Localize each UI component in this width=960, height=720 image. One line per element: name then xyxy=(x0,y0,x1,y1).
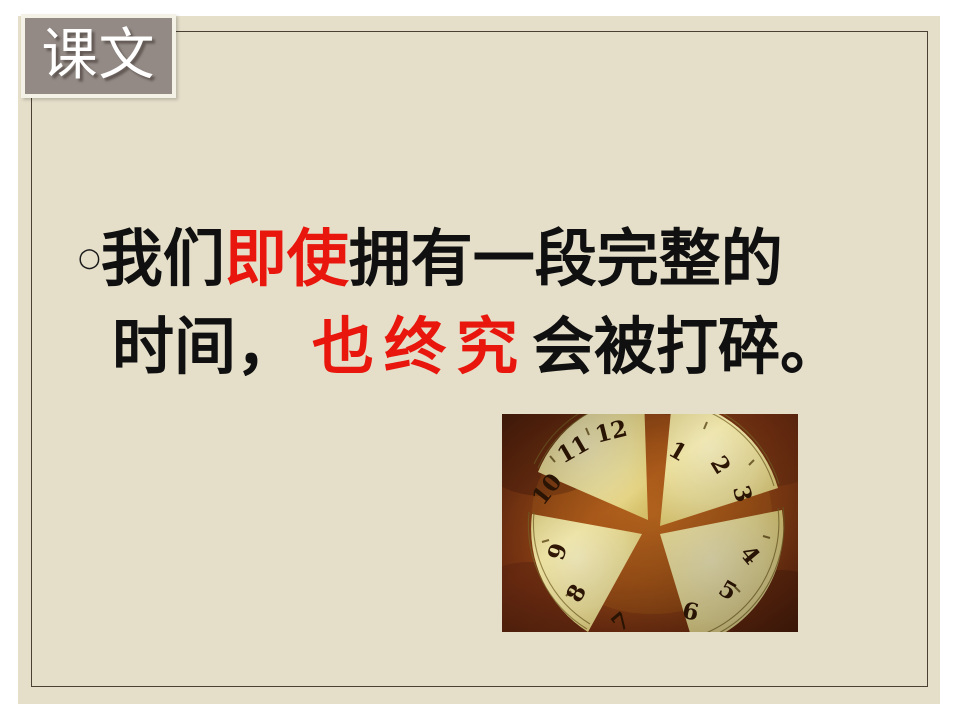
line2-segment-2: 会被打碎。 xyxy=(532,310,842,383)
section-chip-label: 课文 xyxy=(42,28,156,84)
bullet-icon: ○ xyxy=(78,243,101,273)
slide-canvas: 课文 ○我们即使拥有一段完整的 时间，也终究会被打碎。 xyxy=(0,0,960,720)
text-line-2: 时间，也终究会被打碎。 xyxy=(78,303,878,391)
line1-segment-1: 我们 xyxy=(101,222,225,295)
line1-accent-emphasis: 即使 xyxy=(225,222,349,295)
text-line-1: ○我们即使拥有一段完整的 xyxy=(78,214,878,303)
line1-segment-2: 拥有一段完整的 xyxy=(349,222,783,295)
line2-segment-1: 时间， xyxy=(112,310,298,383)
body-text-block: ○我们即使拥有一段完整的 时间，也终究会被打碎。 xyxy=(78,214,878,391)
line2-accent-emphasis: 也终究 xyxy=(298,310,532,383)
broken-clock-image: 12 11 10 9 8 7 6 5 4 3 2 1 xyxy=(502,414,798,632)
broken-clock-illustration: 12 11 10 9 8 7 6 5 4 3 2 1 xyxy=(502,414,798,632)
section-chip: 课文 xyxy=(21,14,176,98)
